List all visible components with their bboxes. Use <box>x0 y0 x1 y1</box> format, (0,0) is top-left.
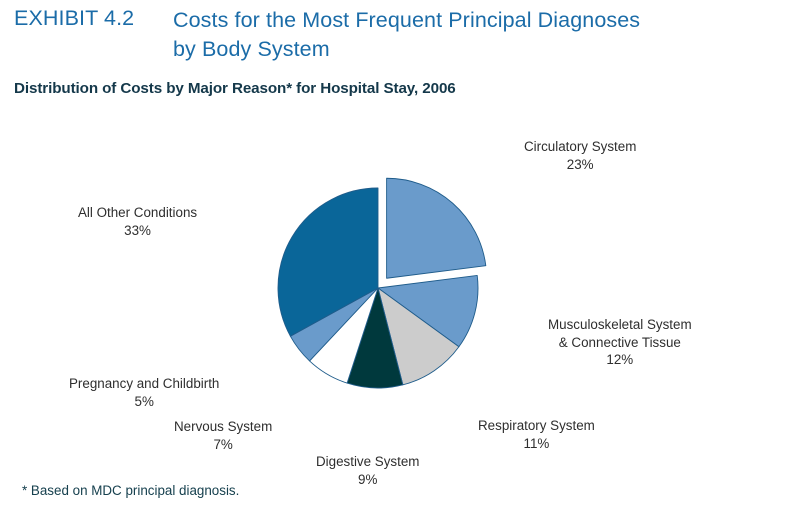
slice-label-value: 7% <box>174 436 272 454</box>
slice-label-name: Digestive System <box>316 454 419 469</box>
pie-slice-group <box>278 178 486 388</box>
slice-label-name: All Other Conditions <box>78 205 197 220</box>
slice-label-value: 12% <box>548 351 692 369</box>
slice-label-value: 5% <box>69 393 219 411</box>
pie-slice-circulatory-system <box>387 178 486 278</box>
slice-label-nervous-system: Nervous System 7% <box>174 418 272 453</box>
slice-label-value: 9% <box>316 471 419 489</box>
exhibit-number: EXHIBIT 4.2 <box>14 6 134 31</box>
slice-label-value: 11% <box>478 435 595 453</box>
slice-label-name-cont: & Connective Tissue <box>548 334 692 352</box>
slice-label-name: Pregnancy and Childbirth <box>69 376 219 391</box>
chart-subtitle: Distribution of Costs by Major Reason* f… <box>14 80 456 97</box>
slice-label-all-other-conditions: All Other Conditions 33% <box>78 204 197 239</box>
slice-label-musculoskeletal-system: Musculoskeletal System & Connective Tiss… <box>548 316 692 369</box>
slice-label-pregnancy-and-childbirth: Pregnancy and Childbirth 5% <box>69 375 219 410</box>
slice-label-circulatory-system: Circulatory System 23% <box>524 138 636 173</box>
slice-label-name: Nervous System <box>174 419 272 434</box>
slice-label-name: Respiratory System <box>478 418 595 433</box>
slice-label-value: 23% <box>524 156 636 174</box>
slice-label-name: Musculoskeletal System <box>548 317 692 332</box>
pie-chart-svg <box>0 105 800 475</box>
slice-label-value: 33% <box>78 222 197 240</box>
footnote: * Based on MDC principal diagnosis. <box>22 483 239 498</box>
pie-chart: Circulatory System 23% Musculoskeletal S… <box>0 105 800 475</box>
page-title: Costs for the Most Frequent Principal Di… <box>173 6 773 64</box>
page-title-line-2: by Body System <box>173 35 773 64</box>
slice-label-name: Circulatory System <box>524 139 636 154</box>
slice-label-digestive-system: Digestive System 9% <box>316 453 419 488</box>
slice-label-respiratory-system: Respiratory System 11% <box>478 417 595 452</box>
page-title-line-1: Costs for the Most Frequent Principal Di… <box>173 6 773 35</box>
